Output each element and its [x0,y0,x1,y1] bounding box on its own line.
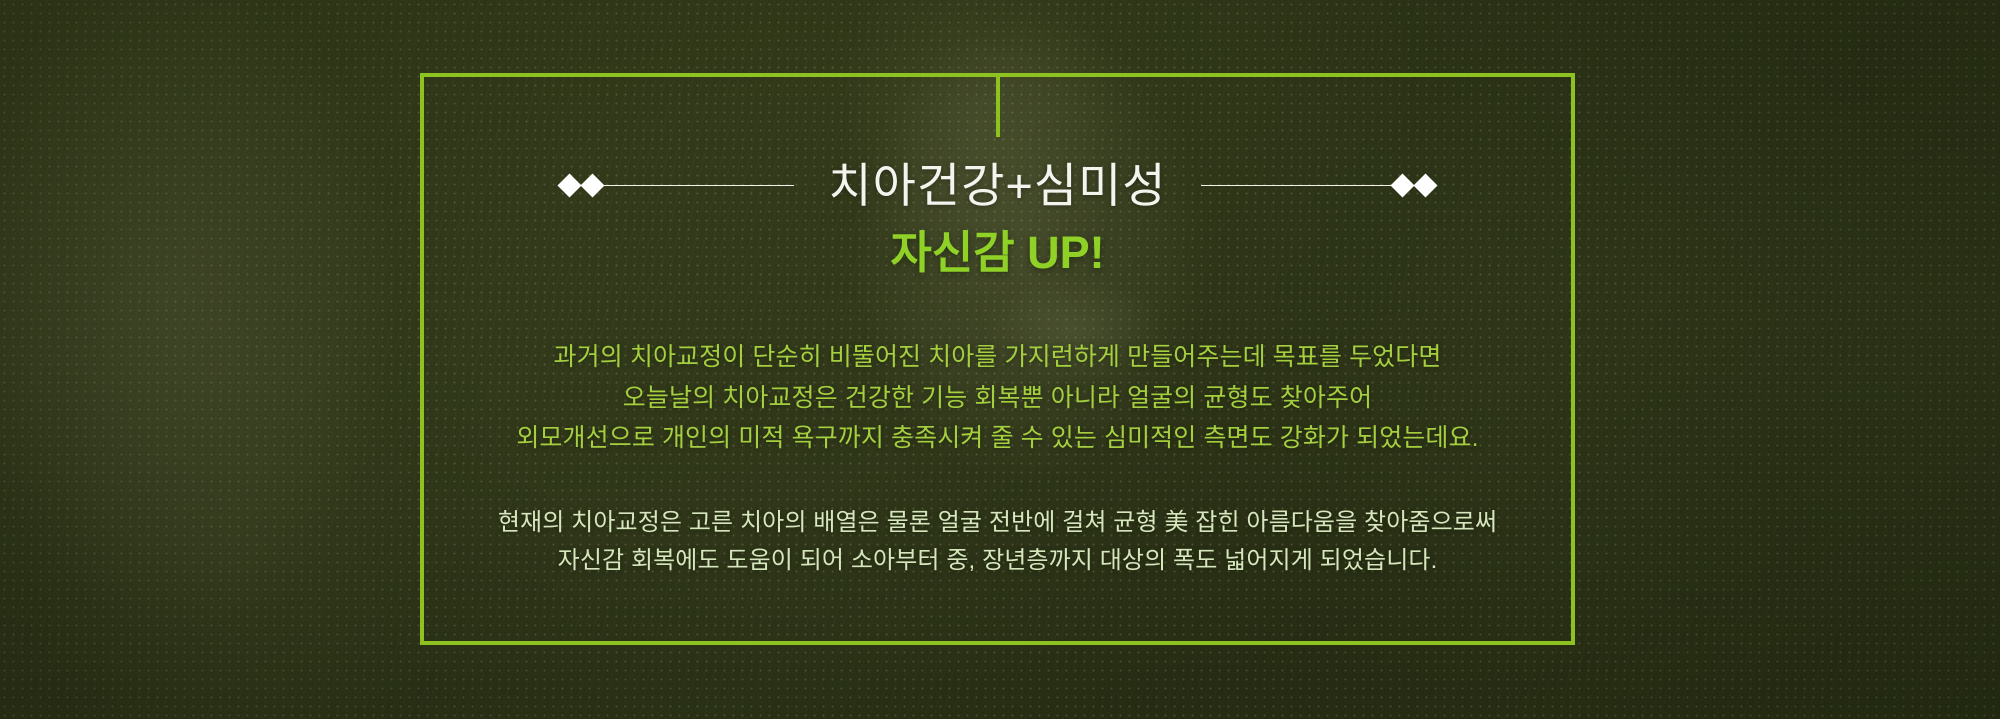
headline-row: 치아건강+심미성 [420,162,1575,209]
paragraph-line: 과거의 치아교정이 단순히 비뚤어진 치아를 가지런하게 만들어주는데 목표를 … [516,337,1478,378]
paragraph-primary: 과거의 치아교정이 단순히 비뚤어진 치아를 가지런하게 만들어주는데 목표를 … [516,337,1478,459]
banner-content: 치아건강+심미성 자신감 UP! 과거의 치아교정이 단순히 비뚤어진 치아를 … [420,73,1575,645]
diamond-icon [581,173,605,197]
paragraph-line: 오늘날의 치아교정은 건강한 기능 회복뿐 아니라 얼굴의 균형도 찾아주어 [516,378,1478,419]
ornament-left [558,177,794,194]
horizontal-rule-right [1201,185,1391,187]
horizontal-rule-left [604,185,794,187]
diamond-icon [1413,173,1437,197]
subheadline: 자신감 UP! [890,230,1104,275]
page-title: 치아건강+심미성 [820,162,1174,209]
paragraph-line: 자신감 회복에도 도움이 되어 소아부터 중, 장년층까지 대상의 폭도 넓어지… [498,542,1497,581]
diamond-icon [558,173,582,197]
paragraph-line: 외모개선으로 개인의 미적 욕구까지 충족시켜 줄 수 있는 심미적인 측면도 … [516,418,1478,459]
paragraph-secondary: 현재의 치아교정은 고른 치아의 배열은 물론 얼굴 전반에 걸쳐 균형 美 잡… [498,504,1497,582]
ornament-right [1201,177,1437,194]
paragraph-line: 현재의 치아교정은 고른 치아의 배열은 물론 얼굴 전반에 걸쳐 균형 美 잡… [498,504,1497,543]
banner-stage: 치아건강+심미성 자신감 UP! 과거의 치아교정이 단순히 비뚤어진 치아를 … [0,0,2000,719]
diamond-icon [1390,173,1414,197]
